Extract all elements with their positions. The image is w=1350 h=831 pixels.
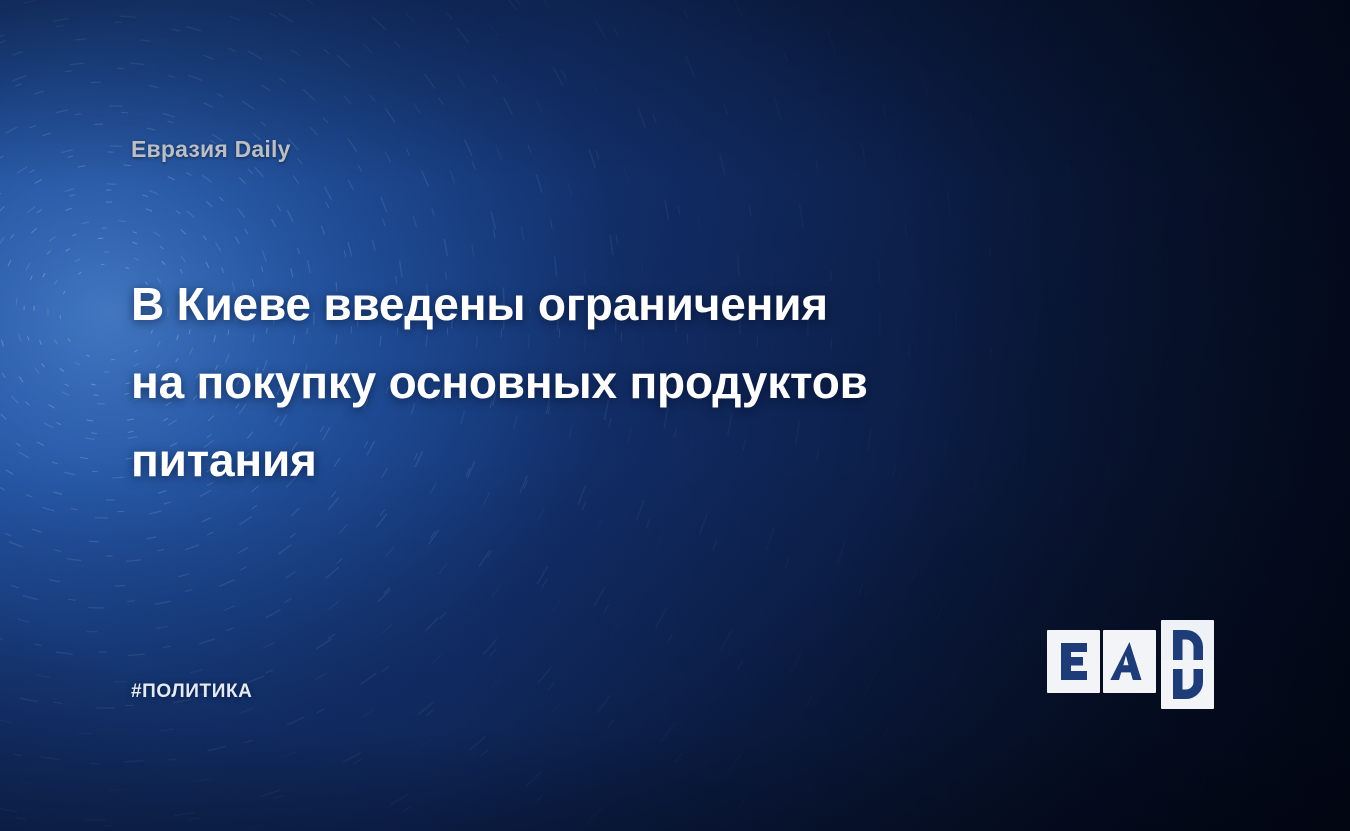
- headline-line-3: питания: [131, 421, 1091, 499]
- headline-line-2: на покупку основных продуктов: [131, 343, 1091, 421]
- site-name: Евразия Daily: [131, 136, 291, 163]
- news-share-card: Евразия Daily В Киеве введены ограничени…: [0, 0, 1350, 831]
- eadaily-logo: [1045, 612, 1235, 712]
- headline-line-1: В Киеве введены ограничения: [131, 265, 1091, 343]
- category-tag: #ПОЛИТИКА: [131, 681, 253, 703]
- headline: В Киеве введены ограничения на покупку о…: [131, 265, 1091, 499]
